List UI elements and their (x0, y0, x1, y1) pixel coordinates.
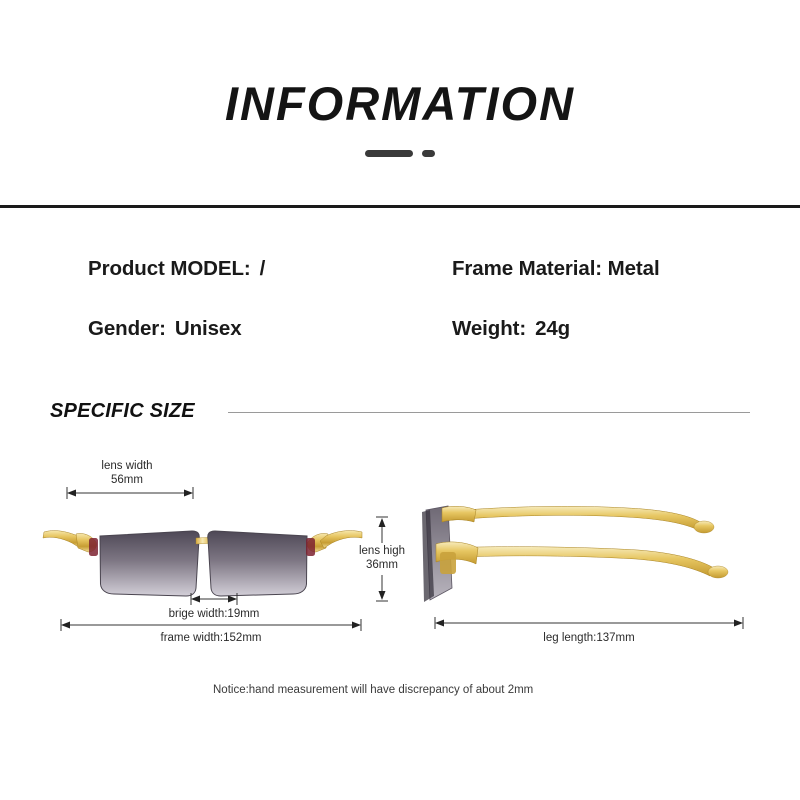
lower-temple-arm (448, 547, 714, 576)
spec-product-model-value: / (260, 257, 266, 280)
hinge-screw-detail (440, 552, 456, 574)
left-hinge-accent (89, 538, 98, 556)
dimension-line-leg-length (432, 616, 746, 630)
specific-size-divider (228, 412, 750, 413)
left-lens (100, 531, 199, 596)
underline-long-bar-icon (365, 150, 413, 157)
header-divider (0, 205, 800, 208)
spec-product-model: Product MODEL:/ (88, 257, 265, 281)
spec-frame-material: Frame Material: Metal (452, 257, 660, 281)
right-hinge-accent (306, 538, 315, 556)
upper-temple-tip (694, 521, 714, 533)
dimension-line-lens-high (374, 515, 390, 603)
spec-frame-material-label: Frame Material: (452, 257, 602, 280)
lens-width-label: lens width (101, 460, 152, 472)
lower-temple-tip (708, 566, 728, 578)
upper-hinge-detail (442, 506, 476, 522)
lens-width-value: 56mm (111, 474, 143, 486)
spec-weight-label: Weight: (452, 317, 526, 340)
dimension-line-frame-width (58, 618, 364, 632)
spec-product-model-label: Product MODEL: (88, 257, 251, 280)
title-underline-decoration (0, 148, 800, 158)
specific-size-heading: SPECIFIC SIZE (50, 400, 195, 423)
spec-gender-value: Unisex (175, 317, 242, 340)
right-lens (208, 531, 307, 596)
spec-gender: Gender:Unisex (88, 317, 242, 341)
upper-temple-arm (444, 506, 700, 530)
dimension-line-bridge-width (188, 592, 240, 606)
measurement-notice: Notice:hand measurement will have discre… (213, 684, 533, 696)
dimension-leg-length-text: leg length:137mm (489, 632, 689, 646)
sunglasses-side-view (418, 492, 736, 610)
dimension-frame-width-text: frame width:152mm (111, 632, 311, 646)
spec-gender-label: Gender: (88, 317, 166, 340)
underline-short-dot-icon (422, 150, 435, 157)
dimension-lens-width-text: lens width 56mm (62, 460, 192, 487)
spec-weight-value: 24g (535, 317, 570, 340)
page-title: INFORMATION (0, 80, 800, 127)
spec-frame-material-value: Metal (608, 257, 660, 280)
dimension-line-lens-width (64, 486, 196, 500)
spec-weight: Weight:24g (452, 317, 570, 341)
product-information-page: INFORMATION Product MODEL:/ Frame Materi… (0, 0, 800, 800)
